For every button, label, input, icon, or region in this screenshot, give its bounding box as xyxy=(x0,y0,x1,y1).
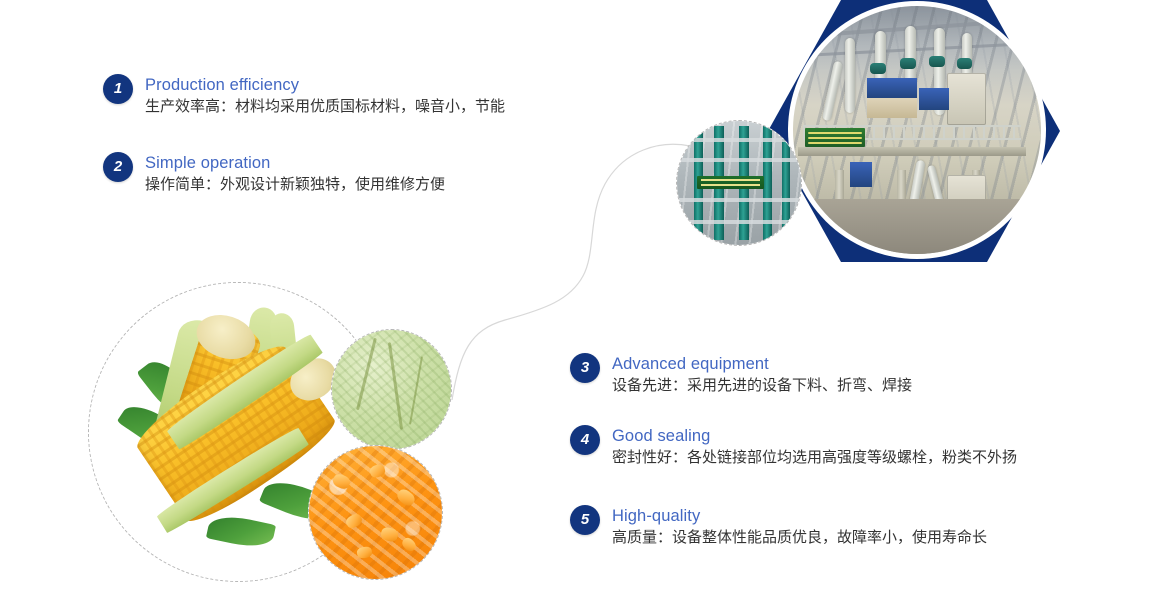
feature-description-4: 密封性好：各处链接部位均选用高强度等级螺栓，粉类不外扬 xyxy=(612,447,1017,469)
flour-milling-plant-photo xyxy=(793,6,1041,254)
feature-item-2[interactable]: 2 Simple operation 操作简单：外观设计新颖独特，使用维修方便 xyxy=(103,152,445,196)
corn-grits-photo xyxy=(308,445,443,580)
feature-number-badge-2: 2 xyxy=(103,152,133,182)
corn-green-photo xyxy=(331,329,452,450)
feature-item-5[interactable]: 5 High-quality 高质量：设备整体性能品质优良，故障率小，使用寿命长 xyxy=(570,505,987,549)
mill-small-photo xyxy=(676,120,802,246)
feature-description-2: 操作简单：外观设计新颖独特，使用维修方便 xyxy=(145,174,445,196)
feature-description-1: 生产效率高：材料均采用优质国标材料，噪音小，节能 xyxy=(145,96,505,118)
feature-title-1: Production efficiency xyxy=(145,75,505,95)
infographic-page: 1 Production efficiency 生产效率高：材料均采用优质国标材… xyxy=(0,0,1154,591)
feature-title-4: Good sealing xyxy=(612,426,1017,446)
feature-text-5: High-quality 高质量：设备整体性能品质优良，故障率小，使用寿命长 xyxy=(612,505,987,549)
feature-item-3[interactable]: 3 Advanced equipment 设备先进：采用先进的设备下料、折弯、焊… xyxy=(570,353,912,397)
feature-number-badge-1: 1 xyxy=(103,74,133,104)
feature-item-4[interactable]: 4 Good sealing 密封性好：各处链接部位均选用高强度等级螺栓，粉类不… xyxy=(570,425,1017,469)
feature-title-5: High-quality xyxy=(612,506,987,526)
green-corn-flour-paste-photo xyxy=(332,330,451,449)
feature-number-badge-5: 5 xyxy=(570,505,600,535)
teal-framed-milling-line-photo xyxy=(677,121,801,245)
feature-text-3: Advanced equipment 设备先进：采用先进的设备下料、折弯、焊接 xyxy=(612,353,912,397)
feature-text-2: Simple operation 操作简单：外观设计新颖独特，使用维修方便 xyxy=(145,152,445,196)
feature-description-3: 设备先进：采用先进的设备下料、折弯、焊接 xyxy=(612,375,912,397)
feature-description-5: 高质量：设备整体性能品质优良，故障率小，使用寿命长 xyxy=(612,527,987,549)
feature-text-1: Production efficiency 生产效率高：材料均采用优质国标材料，… xyxy=(145,74,505,118)
feature-number-badge-4: 4 xyxy=(570,425,600,455)
feature-text-4: Good sealing 密封性好：各处链接部位均选用高强度等级螺栓，粉类不外扬 xyxy=(612,425,1017,469)
mill-main-photo xyxy=(793,6,1041,254)
orange-corn-grits-photo xyxy=(309,446,442,579)
feature-number-badge-3: 3 xyxy=(570,353,600,383)
feature-title-2: Simple operation xyxy=(145,153,445,173)
feature-item-1[interactable]: 1 Production efficiency 生产效率高：材料均采用优质国标材… xyxy=(103,74,505,118)
feature-title-3: Advanced equipment xyxy=(612,354,912,374)
